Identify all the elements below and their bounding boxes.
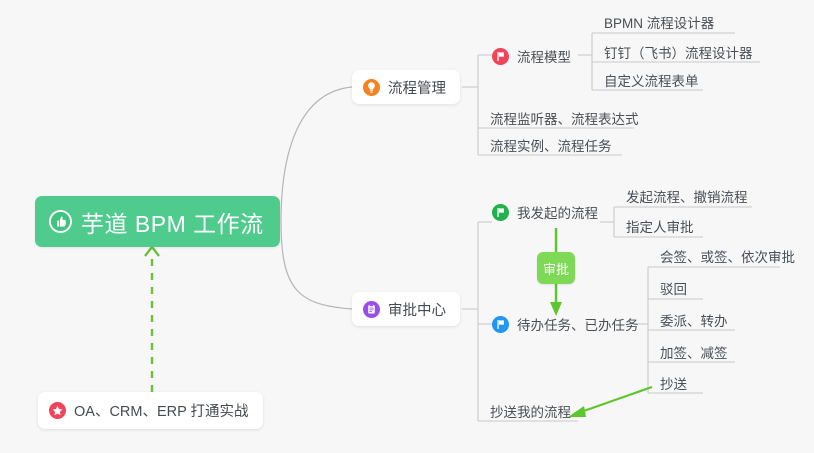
node-process-model[interactable]: 流程模型 [492,46,571,66]
node-label: BPMN 流程设计器 [604,12,714,32]
branch-label: 审批中心 [388,299,446,320]
node-label: 流程模型 [517,46,571,66]
node-listener-expression[interactable]: 流程监听器、流程表达式 [490,108,639,128]
node-label: 发起流程、撤销流程 [626,186,748,206]
root-label: 芋道 BPM 工作流 [81,205,264,239]
node-dingtalk-designer[interactable]: 钉钉（飞书）流程设计器 [604,42,753,62]
arrow-head-up [145,247,159,256]
approval-tag-label: 审批 [543,259,569,278]
node-label: 抄送我的流程 [490,401,571,421]
node-label: 加签、减签 [660,342,728,362]
node-label: 抄送 [660,373,687,393]
node-label: 驳回 [660,278,687,298]
node-label: 钉钉（飞书）流程设计器 [604,42,753,62]
node-label: 流程实例、流程任务 [490,135,612,155]
bottom-note-label: OA、CRM、ERP 打通实战 [74,400,249,421]
root-node[interactable]: 芋道 BPM 工作流 [35,196,280,247]
node-start-cancel[interactable]: 发起流程、撤销流程 [626,186,748,206]
node-label: 指定人审批 [626,216,694,236]
node-bpmn-designer[interactable]: BPMN 流程设计器 [604,12,714,32]
node-instance-task[interactable]: 流程实例、流程任务 [490,135,612,155]
flag-icon [492,204,509,221]
branch-node-process-management[interactable]: 流程管理 [352,70,460,104]
node-my-initiated[interactable]: 我发起的流程 [492,202,598,222]
node-cc[interactable]: 抄送 [660,373,687,393]
node-label: 自定义流程表单 [604,70,699,90]
flag-icon [492,48,509,65]
node-label: 会签、或签、依次审批 [660,246,795,266]
lightbulb-icon [363,79,380,96]
node-custom-form[interactable]: 自定义流程表单 [604,70,699,90]
approval-tag[interactable]: 审批 [537,252,575,284]
bottom-note[interactable]: OA、CRM、ERP 打通实战 [38,392,263,429]
branch-node-approval-center[interactable]: 审批中心 [352,292,460,326]
flag-icon [492,316,509,333]
thumbs-up-icon [49,210,72,233]
node-add-remove-sign[interactable]: 加签、减签 [660,342,728,362]
star-icon [49,402,66,419]
node-assignee-approval[interactable]: 指定人审批 [626,216,694,236]
node-label: 我发起的流程 [517,202,598,222]
node-label: 委派、转办 [660,310,728,330]
node-label: 待办任务、已办任务 [517,314,639,334]
mindmap-canvas: 芋道 BPM 工作流 流程管理 流程模型 BPMN 流程设计器 钉钉（飞书）流 [0,0,814,453]
node-label: 流程监听器、流程表达式 [490,108,639,128]
node-reject[interactable]: 驳回 [660,278,687,298]
clipboard-icon [363,301,380,318]
branch-label: 流程管理 [388,77,446,98]
node-cc-to-me[interactable]: 抄送我的流程 [490,401,571,421]
node-countersign[interactable]: 会签、或签、依次审批 [660,246,795,266]
node-todo-done-tasks[interactable]: 待办任务、已办任务 [492,314,639,334]
node-delegate-transfer[interactable]: 委派、转办 [660,310,728,330]
